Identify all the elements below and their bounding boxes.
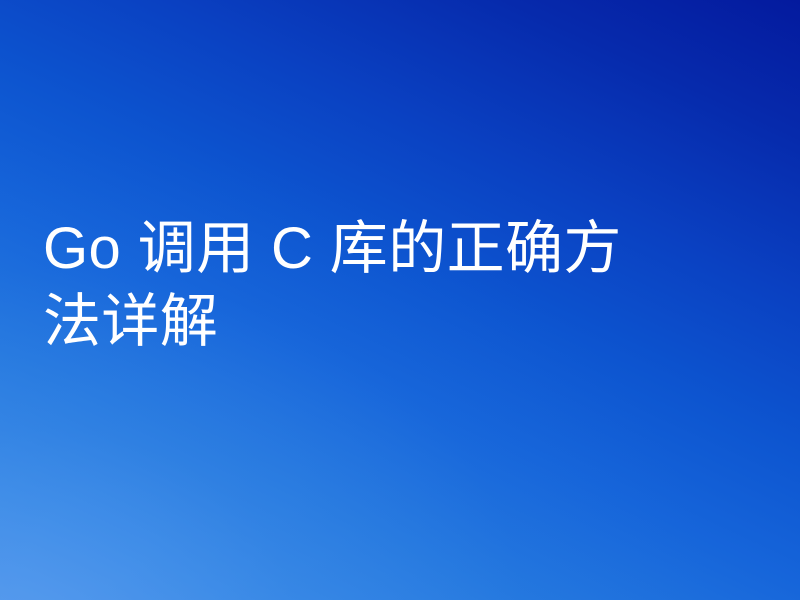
page-title: Go 调用 C 库的正确方法详解 — [43, 212, 663, 358]
title-block: Go 调用 C 库的正确方法详解 — [43, 212, 663, 358]
title-banner: Go 调用 C 库的正确方法详解 — [0, 0, 800, 600]
